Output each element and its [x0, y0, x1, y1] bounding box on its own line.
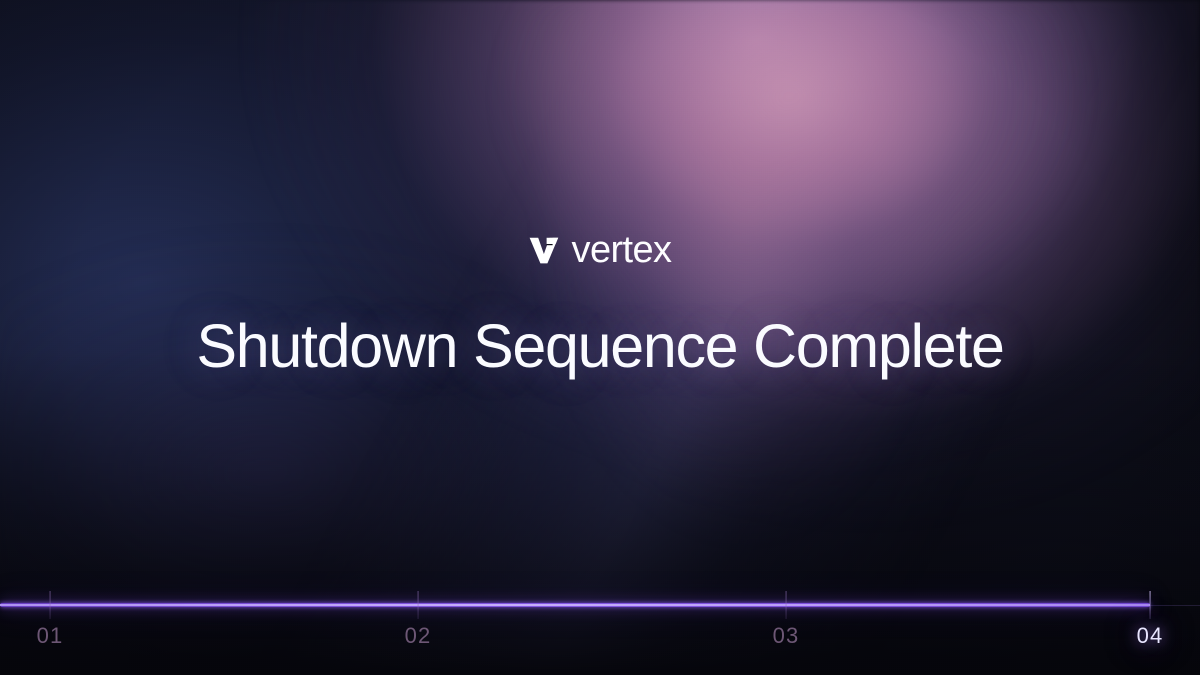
vertex-v-mark-icon [529, 237, 559, 264]
timeline-tick-label-active: 04 [1137, 625, 1164, 647]
timeline-tick-04[interactable]: 04 [1137, 591, 1164, 647]
progress-timeline[interactable]: 01 02 03 04 [0, 591, 1200, 675]
brand-wordmark: vertex [572, 231, 672, 269]
timeline-tick-label: 03 [773, 625, 800, 647]
slide-content: vertex Shutdown Sequence Complete [0, 0, 1200, 675]
tick-mark-icon [418, 591, 419, 619]
tick-mark-icon [50, 591, 51, 619]
timeline-tick-01[interactable]: 01 [37, 591, 64, 647]
timeline-tick-03[interactable]: 03 [773, 591, 800, 647]
timeline-tick-group: 01 02 03 04 [0, 591, 1200, 675]
tick-mark-icon [1150, 591, 1151, 619]
brand-lockup: vertex [529, 228, 672, 272]
timeline-tick-02[interactable]: 02 [405, 591, 432, 647]
tick-mark-icon [786, 591, 787, 619]
slide-canvas: vertex Shutdown Sequence Complete 01 02 … [0, 0, 1200, 675]
timeline-tick-label: 01 [37, 625, 64, 647]
page-title: Shutdown Sequence Complete [196, 314, 1003, 379]
timeline-tick-label: 02 [405, 625, 432, 647]
